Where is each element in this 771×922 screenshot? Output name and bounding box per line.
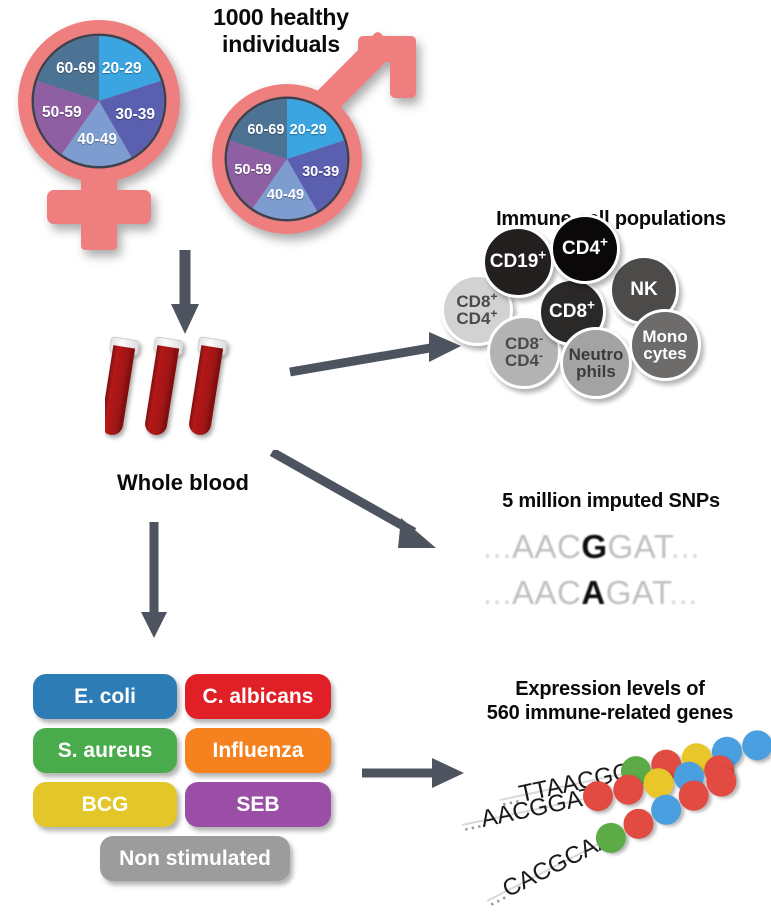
expression-strand-group: ...TTAACGG...AACGGAT...CACGCAA <box>0 0 771 922</box>
figure-canvas: 1000 healthy individuals Immune cell pop… <box>0 0 771 922</box>
